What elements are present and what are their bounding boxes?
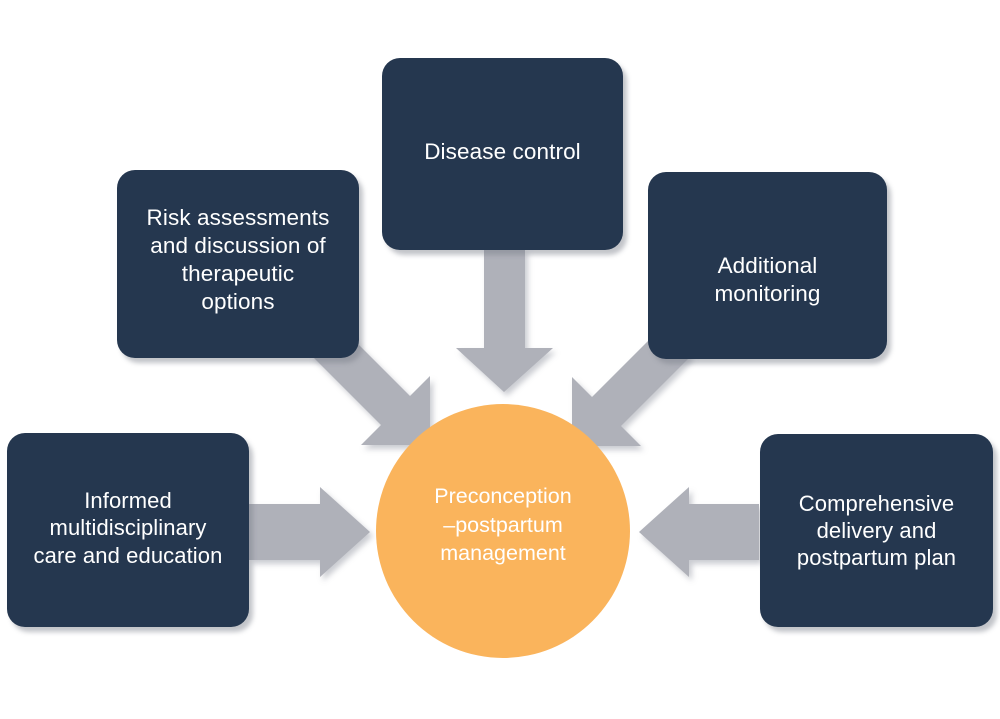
node-additional-monitoring-label: Additional monitoring xyxy=(648,252,887,308)
arrow-disease-control-to-hub xyxy=(456,249,553,392)
node-informed-care-label: Informed multidisciplinary care and educ… xyxy=(7,487,249,569)
diagram-canvas: Disease control Risk assessments and dis… xyxy=(0,0,1000,719)
node-disease-control[interactable]: Disease control xyxy=(382,58,623,250)
node-comprehensive-plan-label: Comprehensive delivery and postpartum pl… xyxy=(760,490,993,572)
node-risk-assessments-label: Risk assessments and discussion of thera… xyxy=(117,204,359,316)
node-informed-care[interactable]: Informed multidisciplinary care and educ… xyxy=(7,433,249,627)
node-disease-control-label: Disease control xyxy=(382,138,623,166)
arrow-informed-care-to-hub xyxy=(249,487,370,577)
arrow-comprehensive-plan-to-hub xyxy=(639,487,759,577)
node-additional-monitoring[interactable]: Additional monitoring xyxy=(648,172,887,359)
hub-label: Preconception –postpartum management xyxy=(403,482,603,567)
hub-preconception-postpartum-management[interactable]: Preconception –postpartum management xyxy=(376,404,630,658)
node-risk-assessments[interactable]: Risk assessments and discussion of thera… xyxy=(117,170,359,358)
node-comprehensive-plan[interactable]: Comprehensive delivery and postpartum pl… xyxy=(760,434,993,627)
